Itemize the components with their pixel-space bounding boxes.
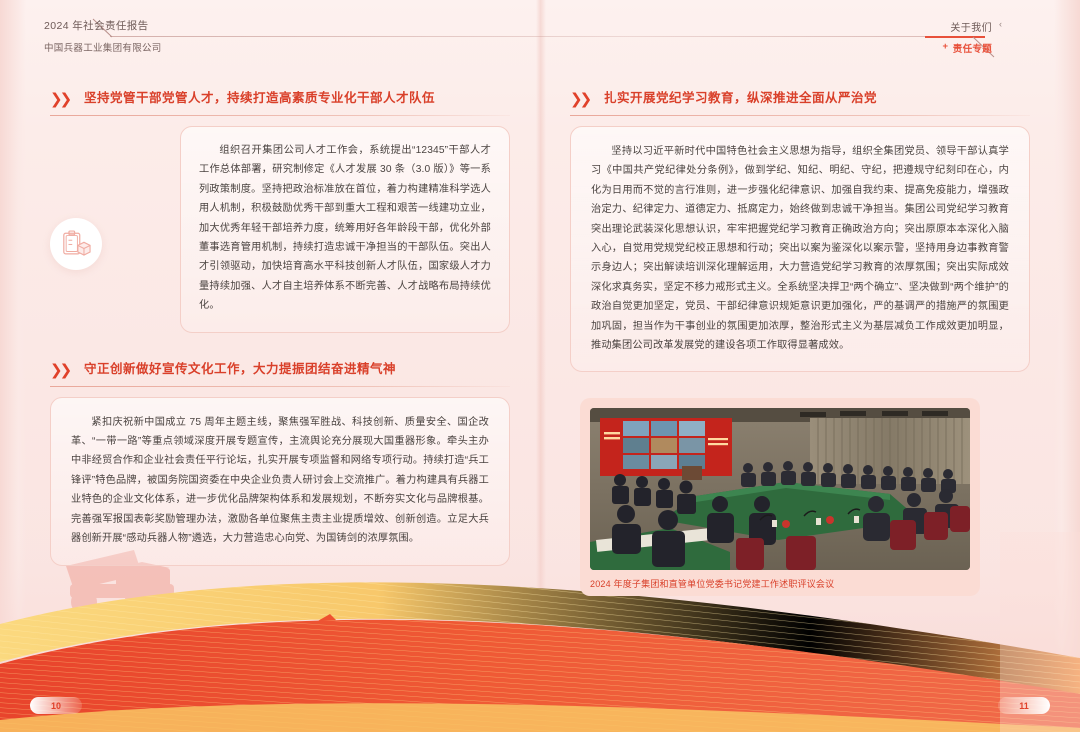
double-chevron-icon: ❯❯ (50, 361, 69, 379)
conference-photo-illustration (590, 408, 970, 570)
conference-room-photo (590, 408, 970, 570)
discipline-paragraph: 坚持以习近平新时代中国特色社会主义思想为指导，组织全集团党员、领导干部认真学习《… (591, 142, 1009, 355)
talent-paragraph: 组织召开集团公司人才工作会，系统提出“12345”干部人才工作总体部署，研究制修… (199, 141, 491, 316)
chevron-left-icon: ‹ (999, 19, 1002, 29)
double-chevron-icon: ❯❯ (570, 90, 589, 108)
page-content: ❯❯ 坚持党管干部党管人才，持续打造高素质专业化干部人才队伍 (50, 88, 1030, 548)
section-underline (50, 386, 510, 387)
company-name: 中国兵器工业集团有限公司 (44, 40, 162, 54)
clipboard-cube-icon (61, 229, 91, 259)
section-header-discipline: ❯❯ 扎实开展党纪学习教育，纵深推进全面从严治党 (570, 88, 1030, 116)
clipboard-cube-icon-badge (50, 218, 102, 270)
plus-icon: + (942, 41, 948, 52)
culture-text-card: 紧扣庆祝新中国成立 75 周年主题主线，聚焦强军胜战、科技创新、质量安全、国企改… (50, 397, 510, 566)
header-divider-line (110, 36, 970, 37)
page-number-left: 10 (30, 697, 82, 714)
right-column: ❯❯ 扎实开展党纪学习教育，纵深推进全面从严治党 坚持以习近平新时代中国特色社会… (570, 88, 1030, 596)
photo-caption: 2024 年度子集团和直管单位党委书记党建工作述职评议会议 (590, 577, 970, 590)
double-chevron-icon: ❯❯ (50, 90, 69, 108)
left-column: ❯❯ 坚持党管干部党管人才，持续打造高素质专业化干部人才队伍 (50, 88, 510, 566)
section-title: 扎实开展党纪学习教育，纵深推进全面从严治党 (604, 88, 1030, 108)
photo-block: 2024 年度子集团和直管单位党委书记党建工作述职评议会议 (580, 398, 980, 596)
discipline-text-card: 坚持以习近平新时代中国特色社会主义思想为指导，组织全集团党员、领导干部认真学习《… (570, 126, 1030, 372)
page-header: 2024 年社会责任报告 中国兵器工业集团有限公司 关于我们 ‹ + 责任专题 (0, 0, 1080, 62)
section-header-talent: ❯❯ 坚持党管干部党管人才，持续打造高素质专业化干部人才队伍 (50, 88, 510, 116)
section-title: 坚持党管干部党管人才，持续打造高素质专业化干部人才队伍 (84, 88, 510, 108)
culture-paragraph: 紧扣庆祝新中国成立 75 周年主题主线，聚焦强军胜战、科技创新、质量安全、国企改… (71, 413, 489, 549)
header-nav-responsibility-topic[interactable]: 责任专题 (953, 41, 992, 55)
page-number-right: 11 (998, 697, 1050, 714)
report-title: 2024 年社会责任报告 (44, 18, 149, 33)
section-header-culture: ❯❯ 守正创新做好宣传文化工作，大力提振团结奋进精气神 (50, 359, 510, 387)
section-title: 守正创新做好宣传文化工作，大力提振团结奋进精气神 (84, 359, 510, 379)
section-block-culture: ❯❯ 守正创新做好宣传文化工作，大力提振团结奋进精气神 紧扣庆祝新中国成立 75… (50, 359, 510, 566)
report-page-spread: 2024 年社会责任报告 中国兵器工业集团有限公司 关于我们 ‹ + 责任专题 … (0, 0, 1080, 732)
talent-text-card: 组织召开集团公司人才工作会，系统提出“12345”干部人才工作总体部署，研究制修… (180, 126, 510, 333)
header-nav-about[interactable]: 关于我们 (950, 19, 992, 34)
section-underline (50, 115, 510, 116)
section-underline (570, 115, 1030, 116)
